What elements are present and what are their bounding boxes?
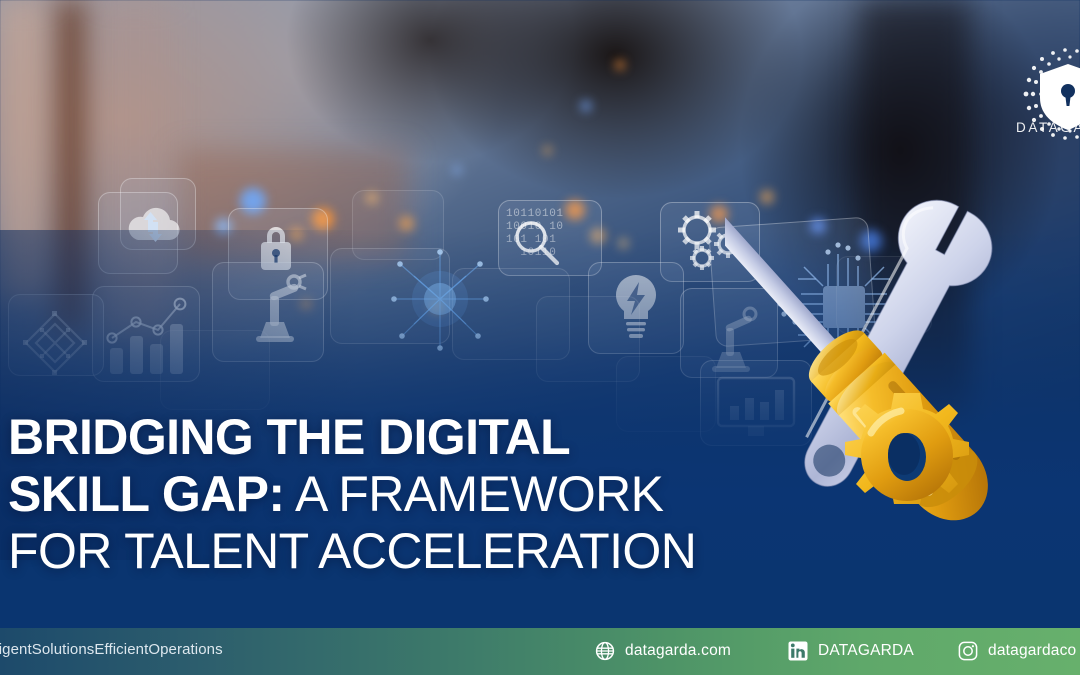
headline-line-2: SKILL GAP: A FRAMEWORK [8, 469, 788, 519]
wrench-screwdriver-gear-illustration [725, 165, 1080, 575]
footer-instagram-label: datagardaco [988, 642, 1076, 660]
headline-line-2-rest: A FRAMEWORK [284, 466, 663, 522]
globe-icon [595, 641, 615, 661]
instagram-icon [958, 641, 978, 661]
page-title: BRIDGING THE DIGITAL SKILL GAP: A FRAMEW… [8, 412, 788, 583]
footer-linkedin-label: DATAGARDA [818, 642, 914, 660]
footer-website-link[interactable]: datagarda.com [595, 641, 731, 661]
footer-bar: #IntelligentSolutionsEfficientOperations… [0, 628, 1080, 675]
headline-line-3: FOR TALENT ACCELERATION [8, 526, 788, 576]
headline-line-2-bold: SKILL GAP: [8, 466, 284, 522]
logo-wordmark: DATAGARDA [1016, 120, 1080, 135]
footer-instagram-link[interactable]: datagardaco [958, 641, 1076, 661]
footer-website-label: datagarda.com [625, 642, 731, 660]
footer-hashtag: #IntelligentSolutionsEfficientOperations [0, 641, 223, 658]
linkedin-icon [788, 641, 808, 661]
headline-line-1: BRIDGING THE DIGITAL [8, 412, 788, 462]
footer-linkedin-link[interactable]: DATAGARDA [788, 641, 914, 661]
marketing-banner: 10110101 10010 10 101 101 10110 [0, 0, 1080, 675]
